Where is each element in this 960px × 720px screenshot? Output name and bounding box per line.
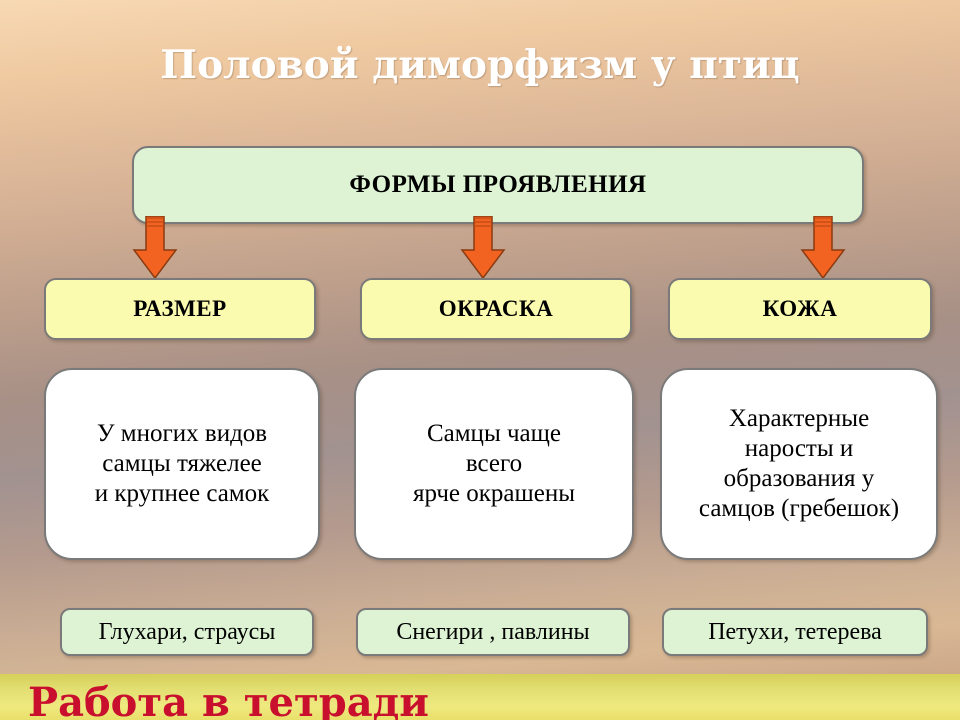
down-arrow-icon [460,216,506,280]
down-arrow-icon [132,216,178,280]
example-box-coloration: Снегири , павлины [356,608,630,656]
category-box-size: РАЗМЕР [44,278,316,340]
category-box-skin: КОЖА [668,278,932,340]
example-box-skin: Петухи, тетерева [662,608,928,656]
page-title: Половой диморфизм у птиц [0,42,960,88]
description-box-coloration: Самцы чащевсегоярче окрашены [354,368,634,560]
example-box-size: Глухари, страусы [60,608,314,656]
description-box-skin: Характерныенаросты иобразования усамцов … [660,368,938,560]
category-box-coloration: ОКРАСКА [360,278,632,340]
description-box-size: У многих видовсамцы тяжелееи крупнее сам… [44,368,320,560]
work-note: Работа в тетради [28,679,429,720]
down-arrow-icon [800,216,846,280]
diagram-header-box: ФОРМЫ ПРОЯВЛЕНИЯ [132,146,864,224]
slide: Половой диморфизм у птиц ФОРМЫ ПРОЯВЛЕНИ… [0,0,960,720]
